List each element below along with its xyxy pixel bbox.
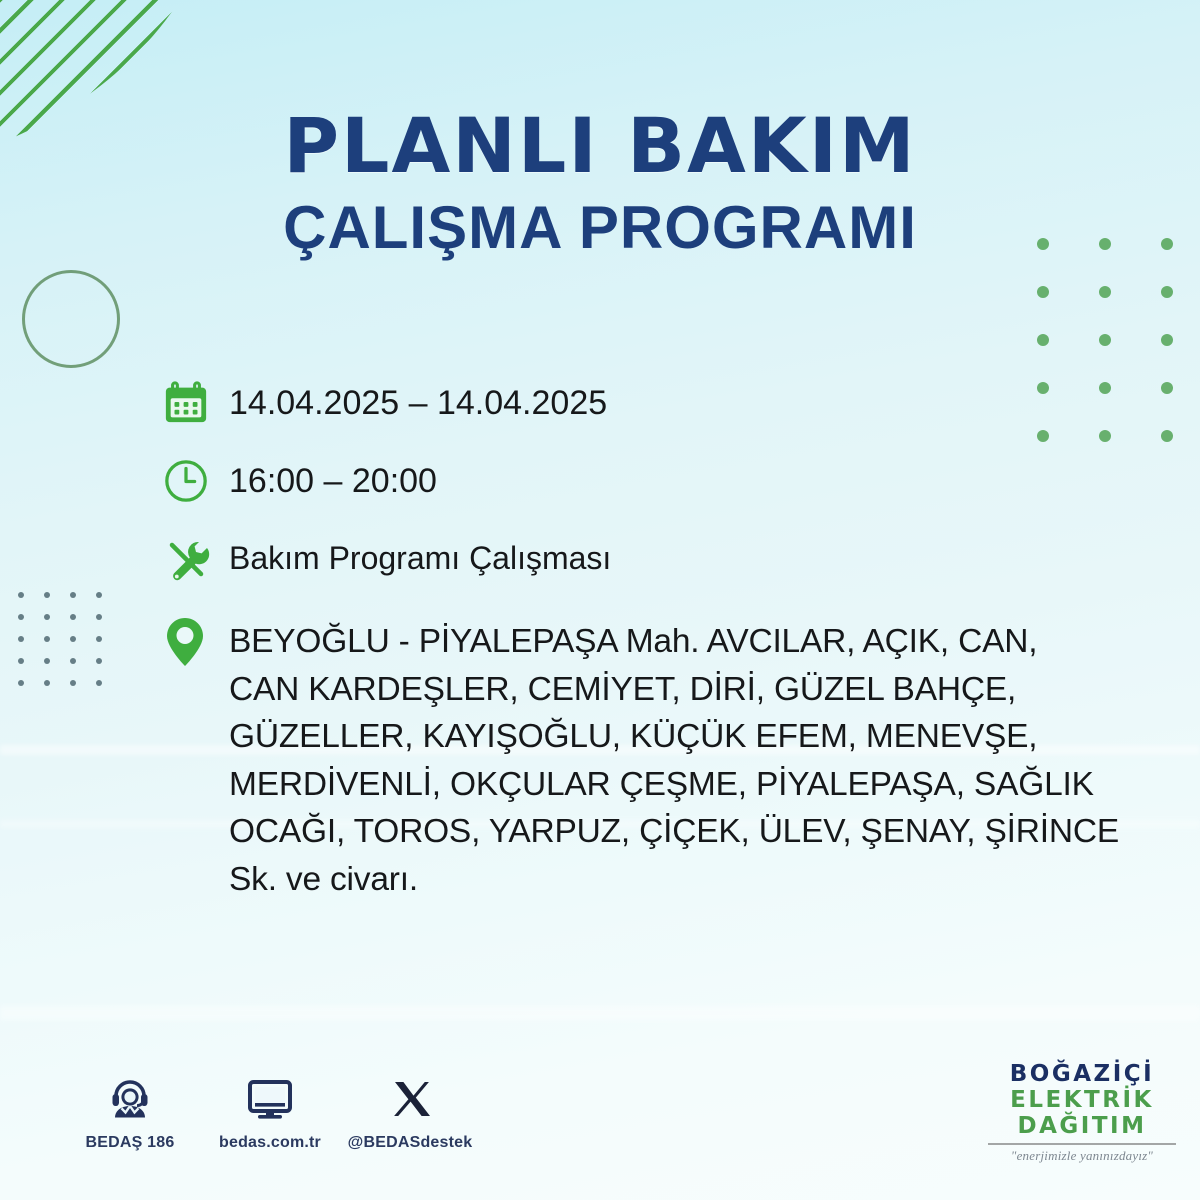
contact-label: @BEDASdestek xyxy=(340,1134,480,1152)
work-type-value: Bakım Programı Çalışması xyxy=(229,534,611,578)
page-subtitle: ÇALIŞMA PROGRAMI xyxy=(0,198,1200,258)
page-title: PLANLI BAKIM xyxy=(0,108,1200,184)
contact-website[interactable]: bedas.com.tr xyxy=(200,1068,340,1152)
brand-line-1: BOĞAZİÇİ xyxy=(982,1062,1182,1088)
brand-line-3: DAĞITIM xyxy=(982,1114,1182,1140)
brand-divider xyxy=(988,1143,1176,1145)
detail-row-date: 14.04.2025 – 14.04.2025 xyxy=(163,378,1173,426)
calendar-icon xyxy=(163,378,229,426)
detail-row-work-type: Bakım Programı Çalışması xyxy=(163,534,1173,584)
maintenance-details: 14.04.2025 – 14.04.2025 16:00 – 20:00 xyxy=(163,378,1173,933)
map-pin-icon xyxy=(163,614,229,668)
address-line: OCAĞI, TOROS, YARPUZ, ÇİÇEK, ÜLEV, ŞENAY… xyxy=(229,808,1173,856)
clock-icon xyxy=(163,456,229,504)
address-line: MERDİVENLİ, OKÇULAR ÇEŞME, PİYALEPAŞA, S… xyxy=(229,761,1173,809)
address-line: CAN KARDEŞLER, CEMİYET, DİRİ, GÜZEL BAHÇ… xyxy=(229,666,1173,714)
x-twitter-icon xyxy=(340,1068,480,1130)
footer-contacts: BEDAŞ 186 bedas.com.tr @BEDASdestek xyxy=(60,1068,480,1152)
address-line: GÜZELLER, KAYIŞOĞLU, KÜÇÜK EFEM, MENEVŞE… xyxy=(229,713,1173,761)
contact-label: bedas.com.tr xyxy=(200,1134,340,1152)
bedas-logo: BOĞAZİÇİ ELEKTRİK DAĞITIM "enerjimizle y… xyxy=(982,1062,1182,1164)
detail-row-location: BEYOĞLU - PİYALEPAŞA Mah. AVCILAR, AÇIK,… xyxy=(163,614,1173,903)
contact-call-center[interactable]: BEDAŞ 186 xyxy=(60,1068,200,1152)
circle-outline-decoration xyxy=(22,270,120,368)
address-line: Sk. ve civarı. xyxy=(229,856,1173,904)
brand-tagline: "enerjimizle yanınızdayız" xyxy=(982,1148,1182,1164)
planned-maintenance-poster: PLANLI BAKIM ÇALIŞMA PROGRAMI xyxy=(0,0,1200,1200)
contact-label: BEDAŞ 186 xyxy=(60,1134,200,1152)
location-value: BEYOĞLU - PİYALEPAŞA Mah. AVCILAR, AÇIK,… xyxy=(229,614,1173,903)
headset-operator-icon xyxy=(60,1068,200,1130)
contact-social-x[interactable]: @BEDASdestek xyxy=(340,1068,480,1152)
dot-grid-left-decoration xyxy=(18,592,122,702)
address-line: BEYOĞLU - PİYALEPAŞA Mah. AVCILAR, AÇIK,… xyxy=(229,618,1173,666)
detail-row-time: 16:00 – 20:00 xyxy=(163,456,1173,504)
time-range-value: 16:00 – 20:00 xyxy=(229,456,437,503)
tools-icon xyxy=(163,534,229,584)
brand-line-2: ELEKTRİK xyxy=(982,1088,1182,1114)
poster-header: PLANLI BAKIM ÇALIŞMA PROGRAMI xyxy=(0,108,1200,258)
monitor-icon xyxy=(200,1068,340,1130)
light-streak-decoration xyxy=(0,1006,1200,1020)
date-range-value: 14.04.2025 – 14.04.2025 xyxy=(229,378,607,425)
